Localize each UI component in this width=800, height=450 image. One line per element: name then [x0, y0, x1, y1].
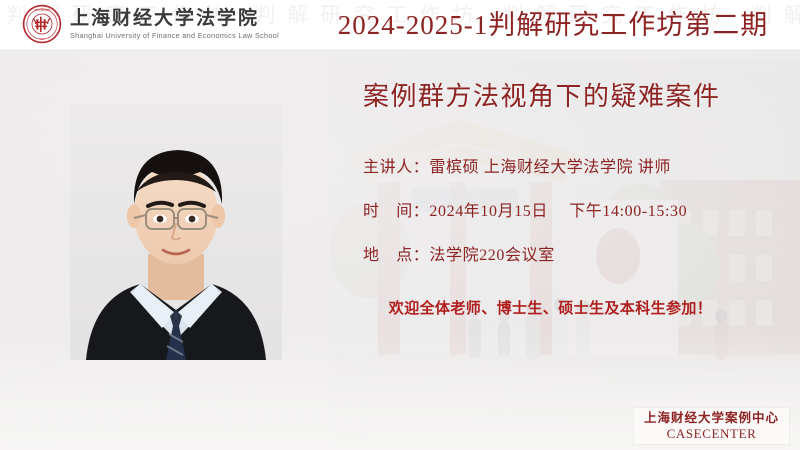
- speaker-portrait: [70, 104, 282, 360]
- svg-text:UNIVERSITY: UNIVERSITY: [34, 9, 51, 12]
- university-seal-icon: UNIVERSITY 1917: [22, 4, 62, 44]
- brand-name-cn: 上海财经大学法学院: [70, 8, 279, 30]
- case-center-name-cn: 上海财经大学案例中心: [644, 410, 779, 426]
- header-divider: [0, 49, 800, 50]
- time-line: 时 间：2024年10月15日 下午14:00-15:30: [363, 200, 793, 224]
- case-center-badge: 上海财经大学案例中心 CASECENTER: [633, 407, 790, 445]
- poster-content: 案例群方法视角下的疑难案件 主讲人：雷槟硕 上海财经大学法学院 讲师 时 间：2…: [363, 80, 793, 320]
- place-line: 地 点：法学院220会议室: [363, 244, 793, 268]
- brand-name-en: Shanghai University of Finance and Econo…: [70, 31, 279, 41]
- banner-title: 2024-2025-1判解研究工作坊第二期: [318, 7, 788, 43]
- page-title: 案例群方法视角下的疑难案件: [363, 80, 793, 114]
- speaker-line: 主讲人：雷槟硕 上海财经大学法学院 讲师: [363, 156, 793, 180]
- svg-text:1917: 1917: [39, 38, 45, 41]
- case-center-name-en: CASECENTER: [667, 426, 757, 442]
- university-brand: UNIVERSITY 1917 上海财经大学法学院 Shanghai Unive…: [22, 4, 279, 44]
- poster-canvas: 判解研究工作坊 判解研究工作坊 判解研究工作坊 判解研究 UNIVERSITY …: [0, 0, 800, 450]
- welcome-line: 欢迎全体老师、博士生、硕士生及本科生参加！: [363, 298, 738, 320]
- brand-text-group: 上海财经大学法学院 Shanghai University of Finance…: [70, 8, 279, 41]
